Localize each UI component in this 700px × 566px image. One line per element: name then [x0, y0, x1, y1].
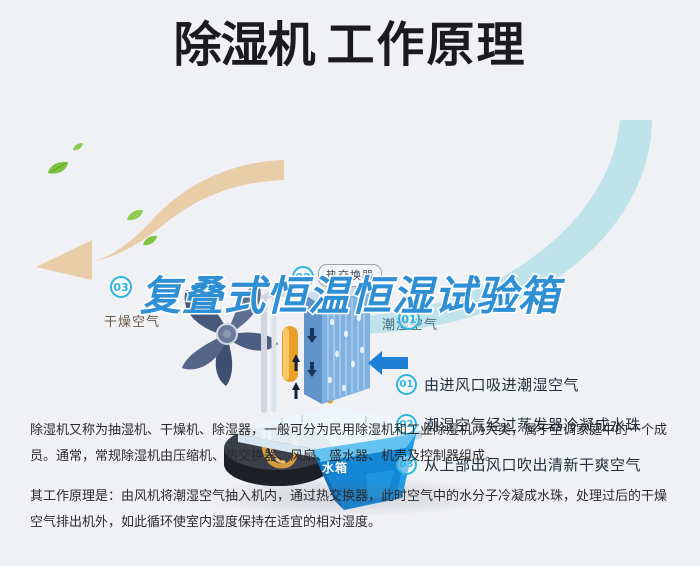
heat-exchanger-callout: 热交换器	[318, 264, 382, 287]
step-text-01: 由进风口吸进潮湿空气	[424, 374, 579, 395]
evaporator-fins-icon	[296, 276, 374, 412]
leaf-icon	[142, 234, 158, 247]
step-badge-01: 01	[396, 374, 417, 395]
page-title: 除湿机工作原理	[0, 18, 700, 73]
diagram-badge-02: 02	[292, 266, 314, 288]
leaf-icon	[72, 142, 84, 152]
working-principle-diagram: 干燥空气 潮湿空气 水箱 03 02 01 热交换器 01 由进风口吸进潮湿空气…	[0, 118, 700, 403]
paragraph-1: 除湿机又称为抽湿机、干燥机、除湿器，一般可分为民用除湿机和工业除湿机两大类，属于…	[30, 418, 675, 470]
dry-air-label: 干燥空气	[104, 311, 160, 330]
description-text: 除湿机又称为抽湿机、干燥机、除湿器，一般可分为民用除湿机和工业除湿机两大类，属于…	[30, 418, 675, 536]
humid-air-flow-arrow	[352, 120, 662, 335]
diagram-badge-03: 03	[110, 276, 132, 298]
leaf-icon	[126, 208, 144, 222]
list-item: 01 由进风口吸进潮湿空气	[396, 372, 692, 396]
diagram-badge-01: 01	[398, 308, 420, 330]
leaf-icon	[46, 160, 70, 176]
title-part-1: 除湿机	[173, 17, 314, 73]
title-part-2: 工作原理	[327, 17, 527, 73]
dry-air-flow-arrow	[34, 146, 284, 281]
paragraph-2: 其工作原理是：由风机将潮湿空气抽入机内，通过热交换器，此时空气中的水分子冷凝成水…	[30, 484, 675, 536]
page-root: 除湿机工作原理	[0, 0, 700, 566]
